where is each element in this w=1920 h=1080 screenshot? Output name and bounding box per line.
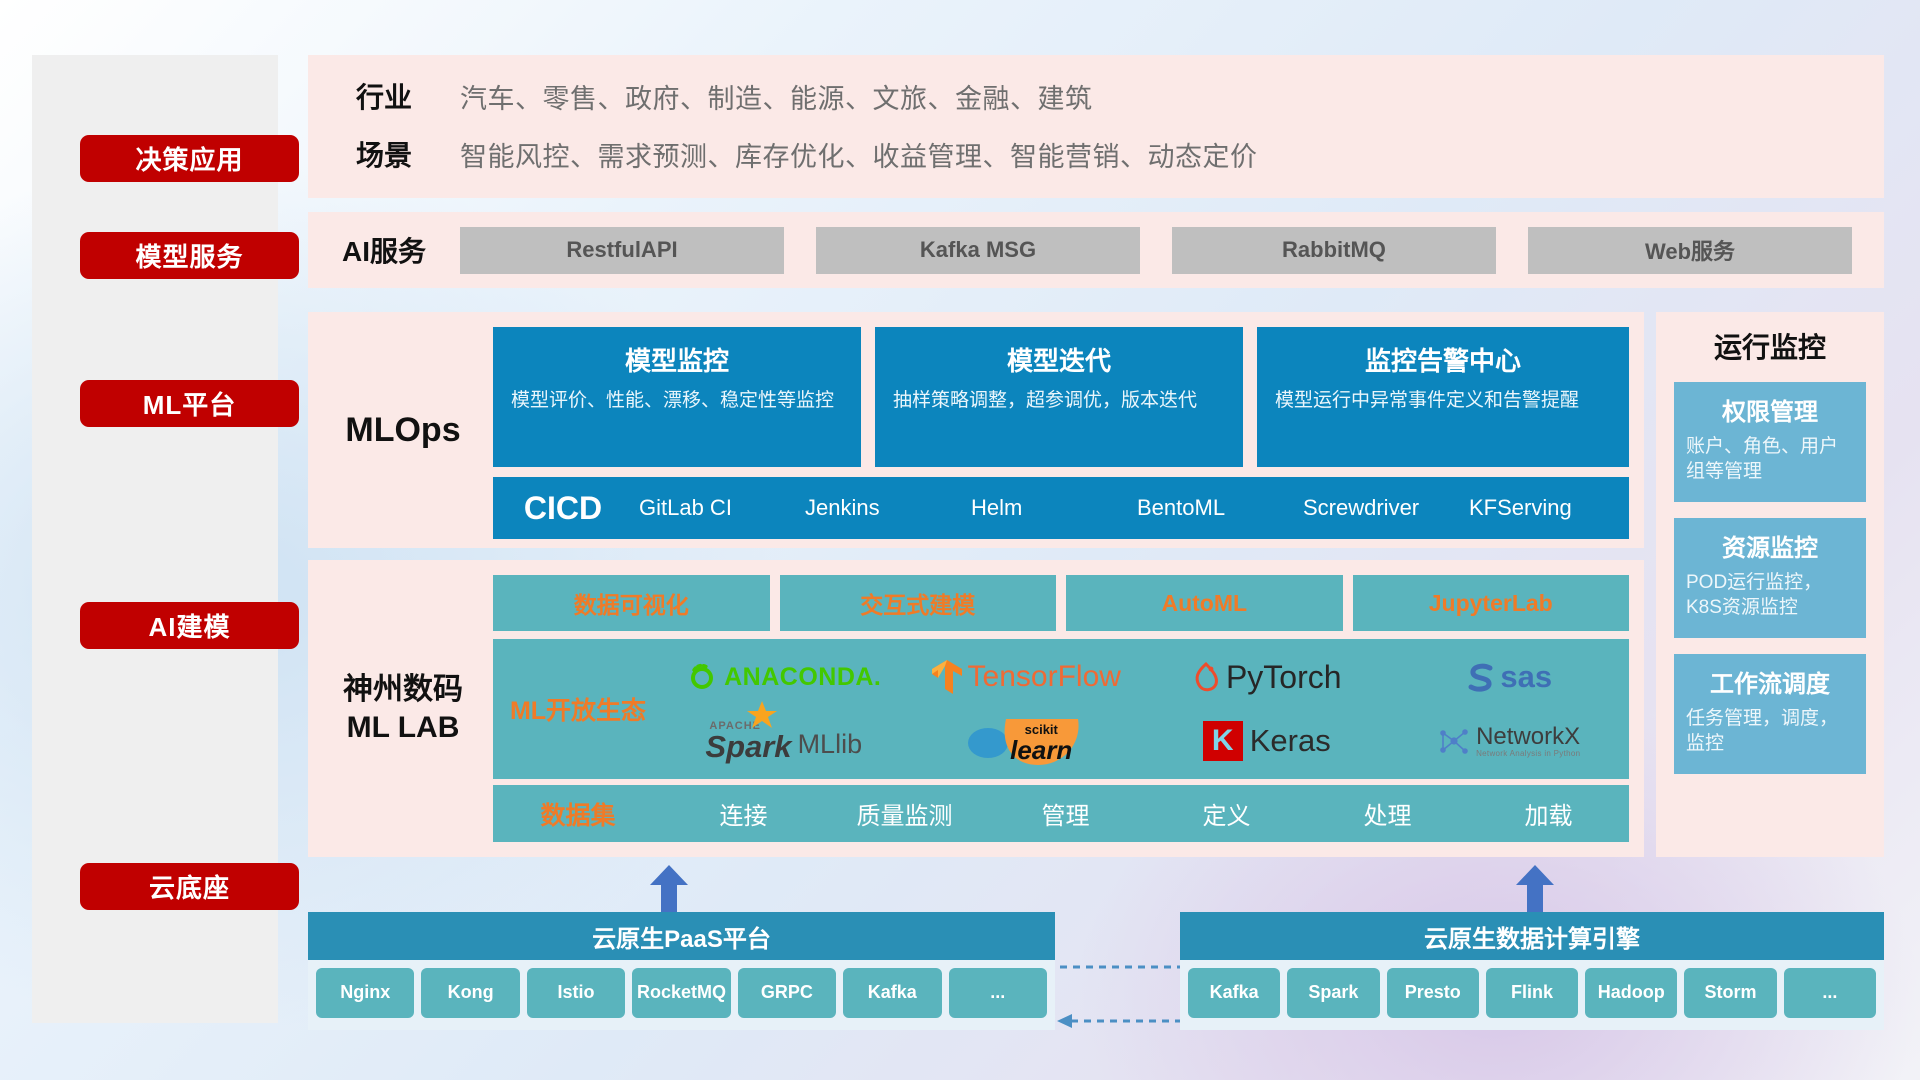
monitor-card-workflow[interactable]: 工作流调度 任务管理，调度，监控 [1674, 654, 1866, 774]
cloud-chip-kafka[interactable]: Kafka [843, 968, 941, 1018]
tensorflow-icon [930, 658, 964, 696]
card-title: 工作流调度 [1686, 664, 1854, 699]
service-chip-rabbitmq[interactable]: RabbitMQ [1172, 227, 1496, 274]
scenario-value: 智能风控、需求预测、库存优化、收益管理、智能营销、动态定价 [460, 135, 1258, 174]
sas-icon [1464, 660, 1498, 694]
card-desc: 账户、角色、用户组等管理 [1686, 434, 1854, 484]
card-title: 模型监控 [511, 341, 843, 378]
chip-label: RabbitMQ [1282, 237, 1386, 263]
ml-lab-label-line2: ML LAB [347, 709, 460, 747]
networkx-label: NetworkX [1476, 725, 1580, 749]
rail-chip-model-service[interactable]: 模型服务 [80, 232, 299, 279]
tab-label: 数据可视化 [574, 586, 689, 620]
ml-lab-tabs: 数据可视化 交互式建模 AutoML JupyterLab [493, 575, 1629, 631]
keras-label: Keras [1250, 723, 1331, 759]
spark-star-icon [745, 700, 779, 732]
cloud-chips-paas: Nginx Kong Istio RocketMQ GRPC Kafka ... [308, 960, 1055, 1026]
monitor-title: 运行监控 [1656, 312, 1884, 366]
cloud-group-data-engine: 云原生数据计算引擎 Kafka Spark Presto Flink Hadoo… [1180, 912, 1884, 1030]
networkx-sublabel: Network Analysis in Python [1476, 749, 1580, 758]
logo-anaconda[interactable]: ANACONDA. [686, 661, 881, 693]
rail-chip-decision[interactable]: 决策应用 [80, 135, 299, 182]
logo-spark-mllib[interactable]: APACHE Spark MLlib [705, 720, 862, 761]
cicd-item-helm[interactable]: Helm [965, 496, 1131, 520]
industry-row: 行业 汽车、零售、政府、制造、能源、文旅、金融、建筑 [308, 67, 1884, 125]
anaconda-label: ANACONDA. [724, 663, 881, 692]
card-title: 模型迭代 [893, 341, 1225, 378]
scikit-label: scikit [998, 720, 1084, 737]
rail-label: 决策应用 [135, 140, 243, 177]
cicd-item-kfserving[interactable]: KFServing [1463, 496, 1629, 520]
logo-sas[interactable]: sas [1464, 659, 1552, 695]
logo-networkx[interactable]: NetworkX Network Analysis in Python [1436, 724, 1580, 758]
rail-chip-cloud-base[interactable]: 云底座 [80, 863, 299, 910]
left-rail: 决策应用 模型服务 ML平台 AI建模 云底座 [32, 55, 278, 1023]
cloud-head-paas: 云原生PaaS平台 [308, 912, 1055, 960]
rail-label: AI建模 [148, 607, 230, 644]
rail-chip-ai-modeling[interactable]: AI建模 [80, 602, 299, 649]
cicd-title: CICD [493, 490, 633, 527]
pytorch-label: PyTorch [1226, 659, 1342, 696]
networkx-icon [1436, 724, 1472, 758]
dataset-item-define[interactable]: 定义 [1146, 796, 1307, 831]
rail-label: ML平台 [143, 385, 237, 422]
mlops-card-alert-center[interactable]: 监控告警中心 模型运行中异常事件定义和告警提醒 [1257, 327, 1629, 467]
card-desc: 模型评价、性能、漂移、稳定性等监控 [511, 388, 843, 414]
mlops-band: MLOps 模型监控 模型评价、性能、漂移、稳定性等监控 模型迭代 抽样策略调整… [308, 312, 1644, 548]
logo-scikit-learn[interactable]: scikit learn [966, 719, 1084, 763]
ml-lab-label: 神州数码 ML LAB [308, 560, 498, 857]
card-title: 权限管理 [1686, 392, 1854, 427]
ml-lab-tab-jupyterlab[interactable]: JupyterLab [1353, 575, 1630, 631]
service-band: AI服务 RestfulAPI Kafka MSG RabbitMQ Web服务 [308, 212, 1884, 288]
cloud-chip-nginx[interactable]: Nginx [316, 968, 414, 1018]
cicd-bar: CICD GitLab CI Jenkins Helm BentoML Scre… [493, 477, 1629, 539]
diagram-canvas: 决策应用 模型服务 ML平台 AI建模 云底座 行业 汽车、零售、政府、制造、能… [0, 0, 1920, 1080]
tab-label: JupyterLab [1429, 590, 1553, 617]
rail-label: 模型服务 [135, 237, 243, 274]
cloud-chip-more[interactable]: ... [949, 968, 1047, 1018]
cloud-group-paas: 云原生PaaS平台 Nginx Kong Istio RocketMQ GRPC… [308, 912, 1055, 1030]
dataset-item-connect[interactable]: 连接 [663, 796, 824, 831]
cloud-chip-kong[interactable]: Kong [421, 968, 519, 1018]
connector-arrows [1055, 955, 1200, 1035]
cicd-item-gitlab-ci[interactable]: GitLab CI [633, 496, 799, 520]
card-desc: 抽样策略调整，超参调优，版本迭代 [893, 388, 1225, 414]
cloud-head-label: 云原生数据计算引擎 [1424, 919, 1640, 954]
cloud-chip-rocketmq[interactable]: RocketMQ [632, 968, 730, 1018]
dataset-title: 数据集 [493, 796, 663, 832]
cloud-chip-presto[interactable]: Presto [1387, 968, 1479, 1018]
ml-lab-band: 神州数码 ML LAB 数据可视化 交互式建模 AutoML JupyterLa… [308, 560, 1644, 857]
cloud-head-data-engine: 云原生数据计算引擎 [1180, 912, 1884, 960]
ml-lab-tab-interactive-modeling[interactable]: 交互式建模 [780, 575, 1057, 631]
learn-label: learn [998, 737, 1084, 763]
chip-label: RestfulAPI [566, 237, 677, 263]
cicd-item-bentoml[interactable]: BentoML [1131, 496, 1297, 520]
card-title: 监控告警中心 [1275, 341, 1611, 378]
logo-tensorflow[interactable]: TensorFlow [930, 658, 1121, 696]
chip-label: Web服务 [1645, 234, 1735, 266]
scenario-key: 场景 [308, 134, 460, 174]
service-chip-restfulapi[interactable]: RestfulAPI [460, 227, 784, 274]
mlops-label: MLOps [308, 312, 498, 548]
dataset-item-quality[interactable]: 质量监测 [824, 796, 985, 831]
industry-key: 行业 [308, 76, 460, 116]
mlops-card-model-iteration[interactable]: 模型迭代 抽样策略调整，超参调优，版本迭代 [875, 327, 1243, 467]
rail-chip-ml-platform[interactable]: ML平台 [80, 380, 299, 427]
card-desc: POD运行监控，K8S资源监控 [1686, 570, 1854, 620]
card-desc: 模型运行中异常事件定义和告警提醒 [1275, 388, 1611, 414]
cloud-chips-data-engine: Kafka Spark Presto Flink Hadoop Storm ..… [1180, 960, 1884, 1026]
spark-label: Spark [705, 732, 791, 761]
sas-label: sas [1500, 659, 1552, 695]
ecosystem-logo-grid: ANACONDA. TensorFlow PyTorch [663, 645, 1629, 773]
monitor-band: 运行监控 权限管理 账户、角色、用户组等管理 资源监控 POD运行监控，K8S资… [1656, 312, 1884, 857]
cloud-chip-storm[interactable]: Storm [1684, 968, 1776, 1018]
pytorch-icon [1192, 660, 1220, 694]
ecosystem-title: ML开放生态 [493, 691, 663, 727]
anaconda-icon [686, 661, 718, 693]
cloud-chip-more[interactable]: ... [1784, 968, 1876, 1018]
keras-icon: K [1203, 721, 1243, 761]
scenario-row: 场景 智能风控、需求预测、库存优化、收益管理、智能营销、动态定价 [308, 125, 1884, 183]
chip-label: Kafka MSG [920, 237, 1036, 263]
rail-label: 云底座 [149, 868, 230, 905]
cicd-item-screwdriver[interactable]: Screwdriver [1297, 496, 1463, 520]
tab-label: 交互式建模 [860, 586, 975, 620]
cicd-item-jenkins[interactable]: Jenkins [799, 496, 965, 520]
card-title: 资源监控 [1686, 528, 1854, 563]
monitor-card-resource[interactable]: 资源监控 POD运行监控，K8S资源监控 [1674, 518, 1866, 638]
service-label: AI服务 [308, 230, 460, 270]
cloud-head-label: 云原生PaaS平台 [592, 919, 771, 954]
card-desc: 任务管理，调度，监控 [1686, 706, 1854, 756]
ml-lab-tab-data-visualization[interactable]: 数据可视化 [493, 575, 770, 631]
cloud-chip-flink[interactable]: Flink [1486, 968, 1578, 1018]
mllib-label: MLlib [798, 729, 863, 760]
ml-lab-tab-automl[interactable]: AutoML [1066, 575, 1343, 631]
cloud-chip-hadoop[interactable]: Hadoop [1585, 968, 1677, 1018]
cloud-chip-istio[interactable]: Istio [527, 968, 625, 1018]
mlops-card-model-monitor[interactable]: 模型监控 模型评价、性能、漂移、稳定性等监控 [493, 327, 861, 467]
monitor-card-permission[interactable]: 权限管理 账户、角色、用户组等管理 [1674, 382, 1866, 502]
cloud-chip-spark[interactable]: Spark [1287, 968, 1379, 1018]
keras-letter: K [1212, 724, 1234, 758]
dataset-item-process[interactable]: 处理 [1307, 796, 1468, 831]
tensorflow-label: TensorFlow [968, 660, 1121, 694]
service-chip-kafka-msg[interactable]: Kafka MSG [816, 227, 1140, 274]
ml-ecosystem: ML开放生态 ANACONDA. TensorFlow [493, 639, 1629, 779]
ml-lab-label-line1: 神州数码 [343, 671, 463, 709]
logo-keras[interactable]: K Keras [1203, 721, 1331, 761]
industry-value: 汽车、零售、政府、制造、能源、文旅、金融、建筑 [460, 77, 1093, 116]
dataset-item-manage[interactable]: 管理 [985, 796, 1146, 831]
tab-label: AutoML [1161, 590, 1247, 617]
cloud-chip-kafka[interactable]: Kafka [1188, 968, 1280, 1018]
cloud-chip-grpc[interactable]: GRPC [738, 968, 836, 1018]
service-chip-web-service[interactable]: Web服务 [1528, 227, 1852, 274]
logo-pytorch[interactable]: PyTorch [1192, 659, 1342, 696]
dataset-item-load[interactable]: 加载 [1468, 796, 1629, 831]
dataset-bar: 数据集 连接 质量监测 管理 定义 处理 加载 [493, 785, 1629, 842]
application-band: 行业 汽车、零售、政府、制造、能源、文旅、金融、建筑 场景 智能风控、需求预测、… [308, 55, 1884, 198]
